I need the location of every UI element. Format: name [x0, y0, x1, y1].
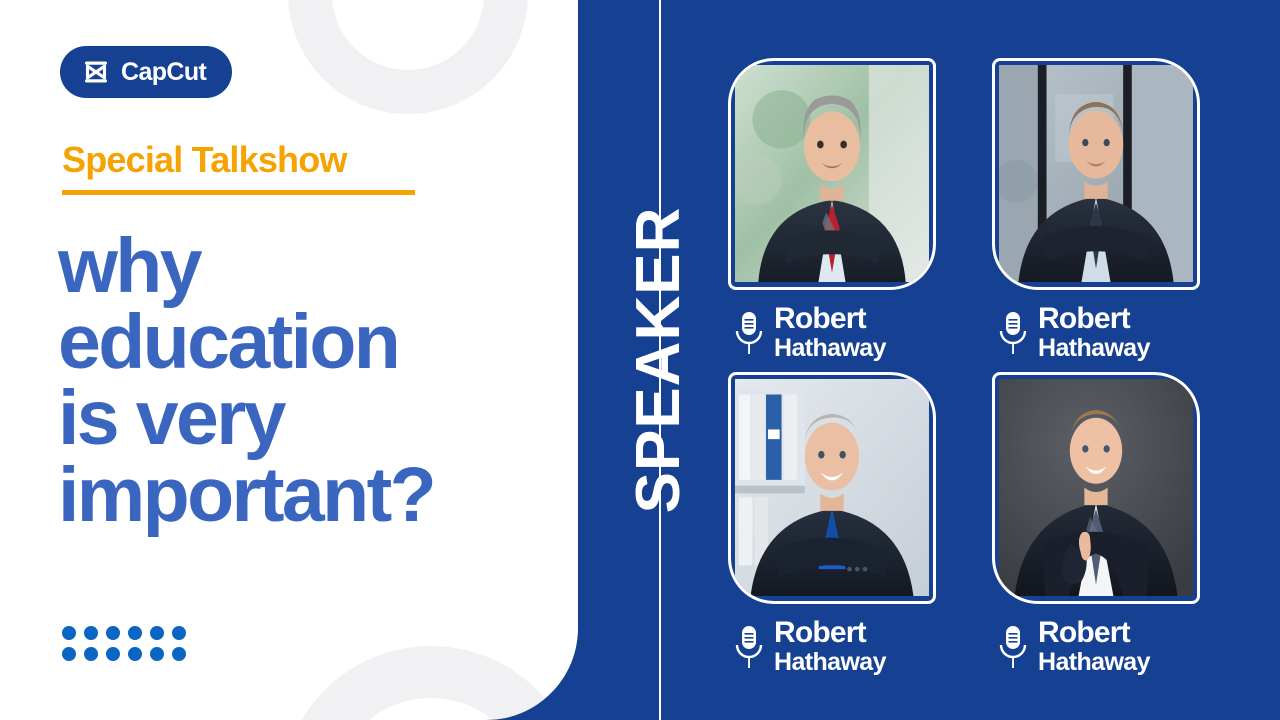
speaker-photo-frame: [992, 372, 1200, 604]
slide-canvas: CapCut Special Talkshow why education is…: [0, 0, 1280, 720]
dot: [84, 626, 98, 640]
decorative-dot-grid: [62, 626, 186, 661]
headline-line-1: why: [58, 228, 558, 304]
dot: [150, 626, 164, 640]
speaker-card[interactable]: Robert Hathaway: [728, 58, 950, 372]
speaker-photo: [735, 379, 929, 597]
speaker-section-label: SPEAKER: [628, 207, 690, 514]
speaker-photo-frame: [992, 58, 1200, 290]
speaker-card[interactable]: Robert Hathaway: [980, 58, 1202, 372]
speaker-photo-frame: [728, 372, 936, 604]
dot: [106, 626, 120, 640]
speaker-card[interactable]: Robert Hathaway: [728, 372, 950, 686]
microphone-icon: [998, 310, 1028, 356]
speaker-name: Robert Hathaway: [774, 618, 886, 675]
speaker-last-name: Hathaway: [1038, 336, 1150, 361]
dot: [172, 626, 186, 640]
decorative-ring-top: [288, 0, 528, 114]
eyebrow-label: Special Talkshow: [62, 140, 415, 180]
portrait-illustration-2: [999, 65, 1193, 282]
speaker-name-row: Robert Hathaway: [734, 618, 886, 675]
microphone-icon: [734, 624, 764, 670]
speaker-last-name: Hathaway: [1038, 650, 1150, 675]
speaker-photo: [999, 65, 1193, 283]
dot: [128, 647, 142, 661]
speaker-name-row: Robert Hathaway: [998, 304, 1150, 361]
headline-line-4: important?: [58, 457, 558, 533]
capcut-logo-text: CapCut: [121, 60, 206, 85]
speaker-last-name: Hathaway: [774, 650, 886, 675]
speaker-last-name: Hathaway: [774, 336, 886, 361]
dot: [128, 626, 142, 640]
speaker-name-row: Robert Hathaway: [998, 618, 1150, 675]
microphone-icon: [998, 624, 1028, 670]
portrait-illustration-3: [735, 379, 929, 596]
portrait-illustration-1: [735, 65, 929, 282]
decorative-ring-bottom: [281, 646, 578, 720]
portrait-illustration-4: [999, 379, 1193, 596]
speaker-card[interactable]: Robert Hathaway: [980, 372, 1202, 686]
dot: [106, 647, 120, 661]
speaker-first-name: Robert: [774, 304, 886, 334]
dot: [150, 647, 164, 661]
speaker-name: Robert Hathaway: [1038, 304, 1150, 361]
page-title: why education is very important?: [58, 228, 558, 533]
capcut-hourglass-icon: [82, 60, 110, 84]
speaker-grid: Robert Hathaway: [728, 58, 1224, 686]
speaker-name-row: Robert Hathaway: [734, 304, 886, 361]
capcut-logo-pill[interactable]: CapCut: [60, 46, 232, 98]
dot: [62, 626, 76, 640]
speaker-first-name: Robert: [774, 618, 886, 648]
speaker-photo: [999, 379, 1193, 597]
speaker-photo: [735, 65, 929, 283]
microphone-icon: [734, 310, 764, 356]
headline-line-3: is very: [58, 380, 558, 456]
speaker-first-name: Robert: [1038, 304, 1150, 334]
speaker-name: Robert Hathaway: [1038, 618, 1150, 675]
speaker-first-name: Robert: [1038, 618, 1150, 648]
eyebrow-group: Special Talkshow: [62, 140, 415, 195]
dot: [84, 647, 98, 661]
speaker-photo-frame: [728, 58, 936, 290]
headline-line-2: education: [58, 304, 558, 380]
dot: [172, 647, 186, 661]
dot: [62, 647, 76, 661]
speaker-name: Robert Hathaway: [774, 304, 886, 361]
eyebrow-underline: [62, 190, 415, 195]
